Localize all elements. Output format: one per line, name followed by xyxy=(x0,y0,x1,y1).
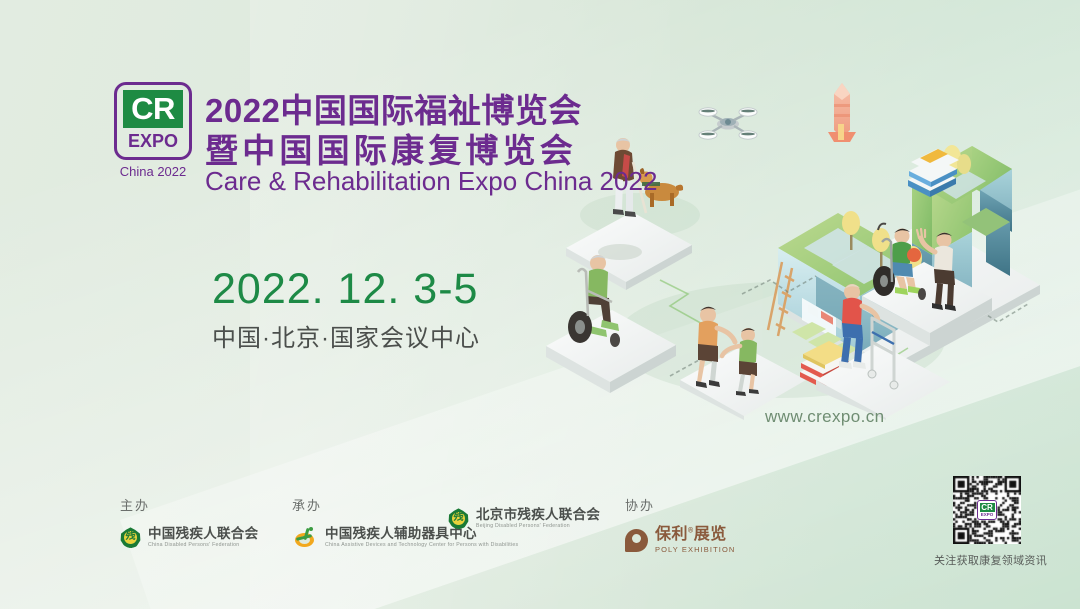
title-english: Care & Rehabilitation Expo China 2022 xyxy=(205,166,657,197)
qr-caption: 关注获取康复领域资讯 xyxy=(934,552,1040,568)
sponsor-item: 残 北京市残疾人联合会 Beijing Disabled Persons' Fe… xyxy=(448,508,600,530)
qr-logo-expo: EXPO xyxy=(981,512,994,518)
drone-icon xyxy=(699,108,757,139)
assistive-device-swoosh-icon xyxy=(292,527,318,548)
isometric-illustration xyxy=(520,80,1080,420)
sponsor-group-cohost: 协办 保利®展览 POLY EXHIBITION xyxy=(625,495,735,554)
logo-expo-mark: EXPO xyxy=(128,130,178,152)
logo-cr-mark: CR xyxy=(123,90,183,128)
qr-code-image[interactable]: CR EXPO xyxy=(953,476,1021,544)
sponsor-name-en: China Assistive Devices and Technology C… xyxy=(325,543,518,548)
bdpf-flower-badge-icon: 残 xyxy=(448,508,469,529)
event-venue: 中国·北京·国家会议中心 xyxy=(212,318,480,353)
sponsor-item: 中国残疾人辅助器具中心 China Assistive Devices and … xyxy=(292,527,518,549)
illustration-svg xyxy=(520,80,1080,420)
qr-logo-cr: CR xyxy=(980,503,995,512)
sponsor-group-beijing: 残 北京市残疾人联合会 Beijing Disabled Persons' Fe… xyxy=(448,495,600,530)
website-url[interactable]: www.crexpo.cn xyxy=(765,407,885,427)
logo-frame: CR EXPO xyxy=(114,82,192,160)
sponsor-role-label: 主办 xyxy=(120,495,258,514)
poster-canvas: CR EXPO China 2022 2022中国国际福祉博览会 暨中国国际康复… xyxy=(0,0,1080,609)
qr-center-logo: CR EXPO xyxy=(977,500,997,520)
sponsor-name-en: China Disabled Persons' Federation xyxy=(148,543,258,548)
sponsor-item: 残 中国残疾人联合会 China Disabled Persons' Feder… xyxy=(120,527,258,549)
orange-tower-landmark xyxy=(828,83,856,142)
sponsor-name-cn: 北京市残疾人联合会 xyxy=(476,508,600,522)
cr-expo-logo: CR EXPO China 2022 xyxy=(110,82,196,179)
poly-name-tail: 展览 xyxy=(694,526,727,543)
qr-code-block: CR EXPO 关注获取康复领域资讯 xyxy=(934,476,1040,568)
poly-exhibition-p-icon xyxy=(625,529,648,552)
sponsor-name-en: Beijing Disabled Persons' Federation xyxy=(476,524,600,529)
event-date: 2022. 12. 3-5 xyxy=(212,265,478,314)
title-chinese-line-2: 暨中国国际康复博览会 xyxy=(205,124,577,172)
logo-subtitle: China 2022 xyxy=(110,164,196,179)
sponsor-role-label: 协办 xyxy=(625,495,735,514)
poly-name-en: POLY EXHIBITION xyxy=(655,546,735,554)
sponsor-group-organizer: 主办 残 中国残疾人联合会 China Disabled Persons' Fe… xyxy=(120,495,258,549)
cdpf-flower-badge-icon: 残 xyxy=(120,527,141,548)
poly-name-cn: 保利®展览 xyxy=(655,527,735,544)
poly-name-main: 保利 xyxy=(655,526,688,543)
sponsor-item: 保利®展览 POLY EXHIBITION xyxy=(625,527,735,554)
sponsor-name-cn: 中国残疾人联合会 xyxy=(148,527,258,541)
